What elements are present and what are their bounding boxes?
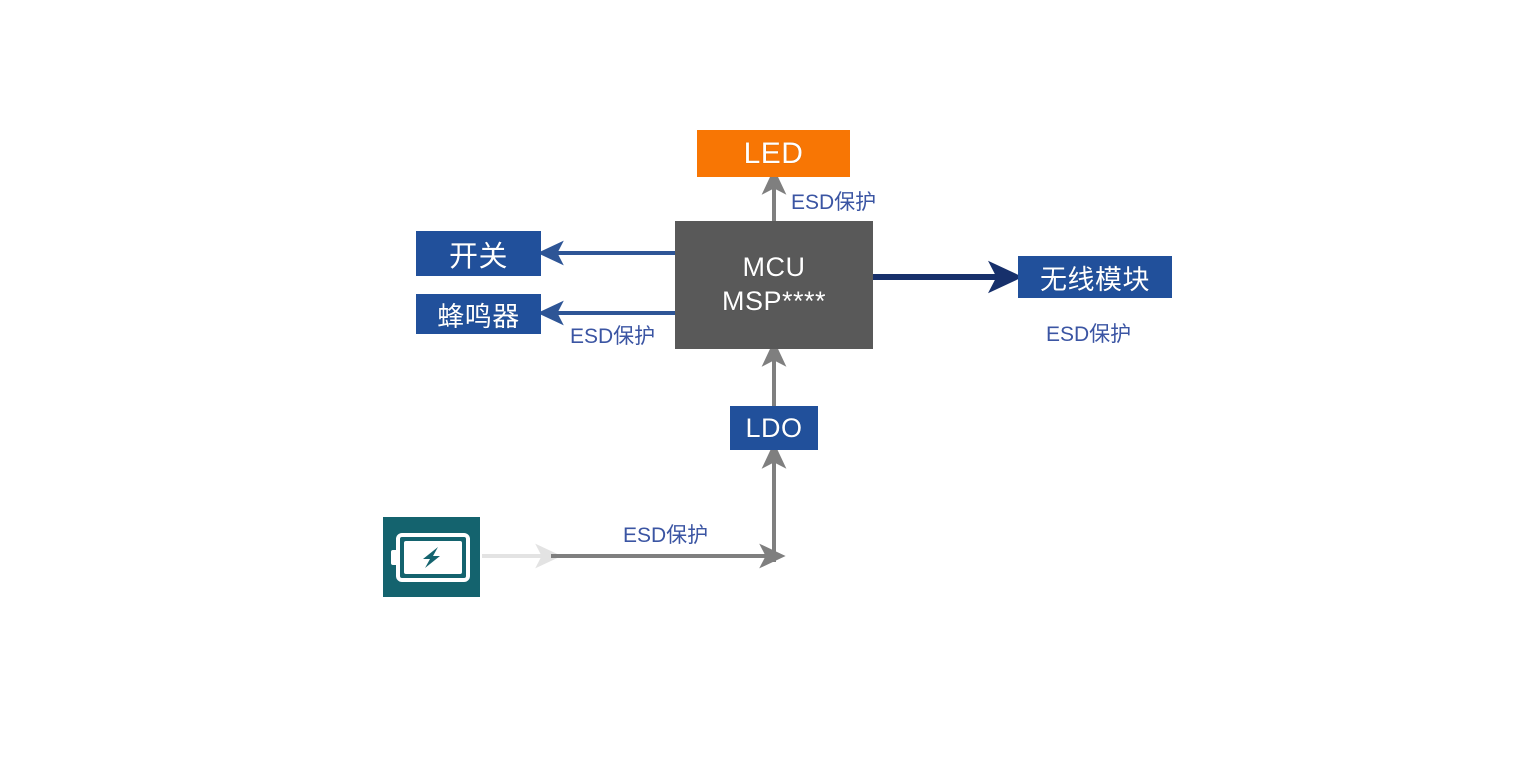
node-switch-label: 开关	[449, 233, 508, 275]
connector-layer	[0, 0, 1520, 763]
label-esd-battery: ESD保护	[623, 519, 708, 549]
node-buzzer[interactable]: 蜂鸣器	[416, 294, 541, 334]
label-esd-buzzer: ESD保护	[570, 320, 655, 350]
node-switch[interactable]: 开关	[416, 231, 541, 276]
label-esd-led: ESD保护	[791, 186, 876, 216]
diagram-canvas: LED MCU MSP**** 开关 蜂鸣器 无线模块 LDO ESD保护 ES…	[0, 0, 1520, 763]
node-buzzer-label: 蜂鸣器	[437, 295, 520, 334]
label-esd-wireless: ESD保护	[1046, 318, 1131, 348]
battery-icon	[383, 517, 480, 597]
node-wireless-module[interactable]: 无线模块	[1018, 256, 1172, 298]
node-led[interactable]: LED	[697, 130, 850, 177]
node-ldo-label: LDO	[745, 413, 802, 444]
node-mcu-label-line2: MSP****	[722, 285, 826, 319]
node-mcu[interactable]: MCU MSP****	[675, 221, 873, 349]
node-mcu-label-line1: MCU	[743, 251, 806, 285]
node-wireless-module-label: 无线模块	[1040, 258, 1150, 297]
node-ldo[interactable]: LDO	[730, 406, 818, 450]
node-led-label: LED	[744, 137, 804, 171]
